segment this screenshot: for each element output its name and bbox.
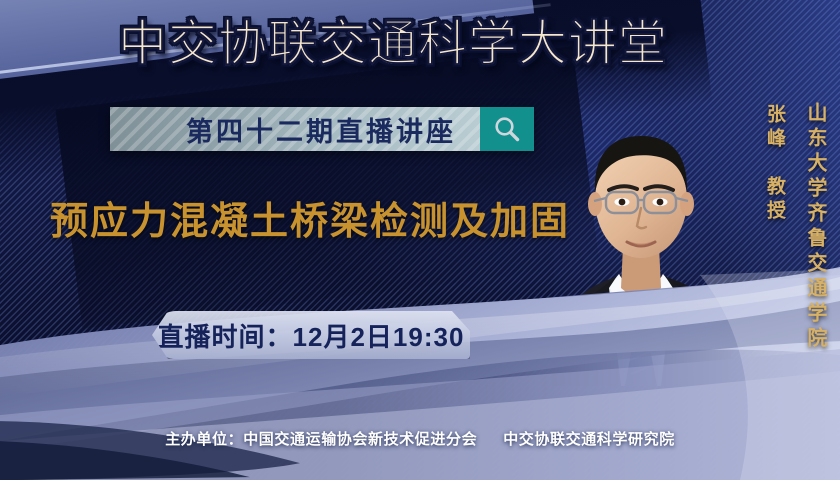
search-icon: [480, 107, 534, 151]
session-banner-label: 第四十二期直播讲座: [186, 110, 456, 149]
live-lecture-poster: 中交协联交通科学大讲堂 第四十二期直播讲座 预应力混凝土桥梁检测及加固 直播时间…: [0, 0, 840, 480]
session-banner-body: 第四十二期直播讲座: [110, 107, 480, 151]
footer-organizer-suffix: 中交协联交通科学研究院: [503, 428, 675, 449]
speaker-affiliation: 山东大学齐鲁交通学院: [801, 102, 830, 352]
speaker-name-title: 张峰 教授: [761, 104, 788, 224]
live-time-badge: 直播时间：12月2日19:30: [152, 311, 470, 359]
live-time-label: 直播时间：12月2日19:30: [158, 317, 465, 354]
page-title: 中交协联交通科学大讲堂: [118, 17, 698, 72]
lecture-topic: 预应力混凝土桥梁检测及加固: [50, 190, 570, 245]
footer-organizer-prefix: 主办单位：中国交通运输协会新技术促进分会: [165, 428, 477, 449]
session-banner: 第四十二期直播讲座: [110, 107, 534, 151]
footer: 主办单位：中国交通运输协会新技术促进分会 中交协联交通科学研究院: [0, 424, 840, 452]
